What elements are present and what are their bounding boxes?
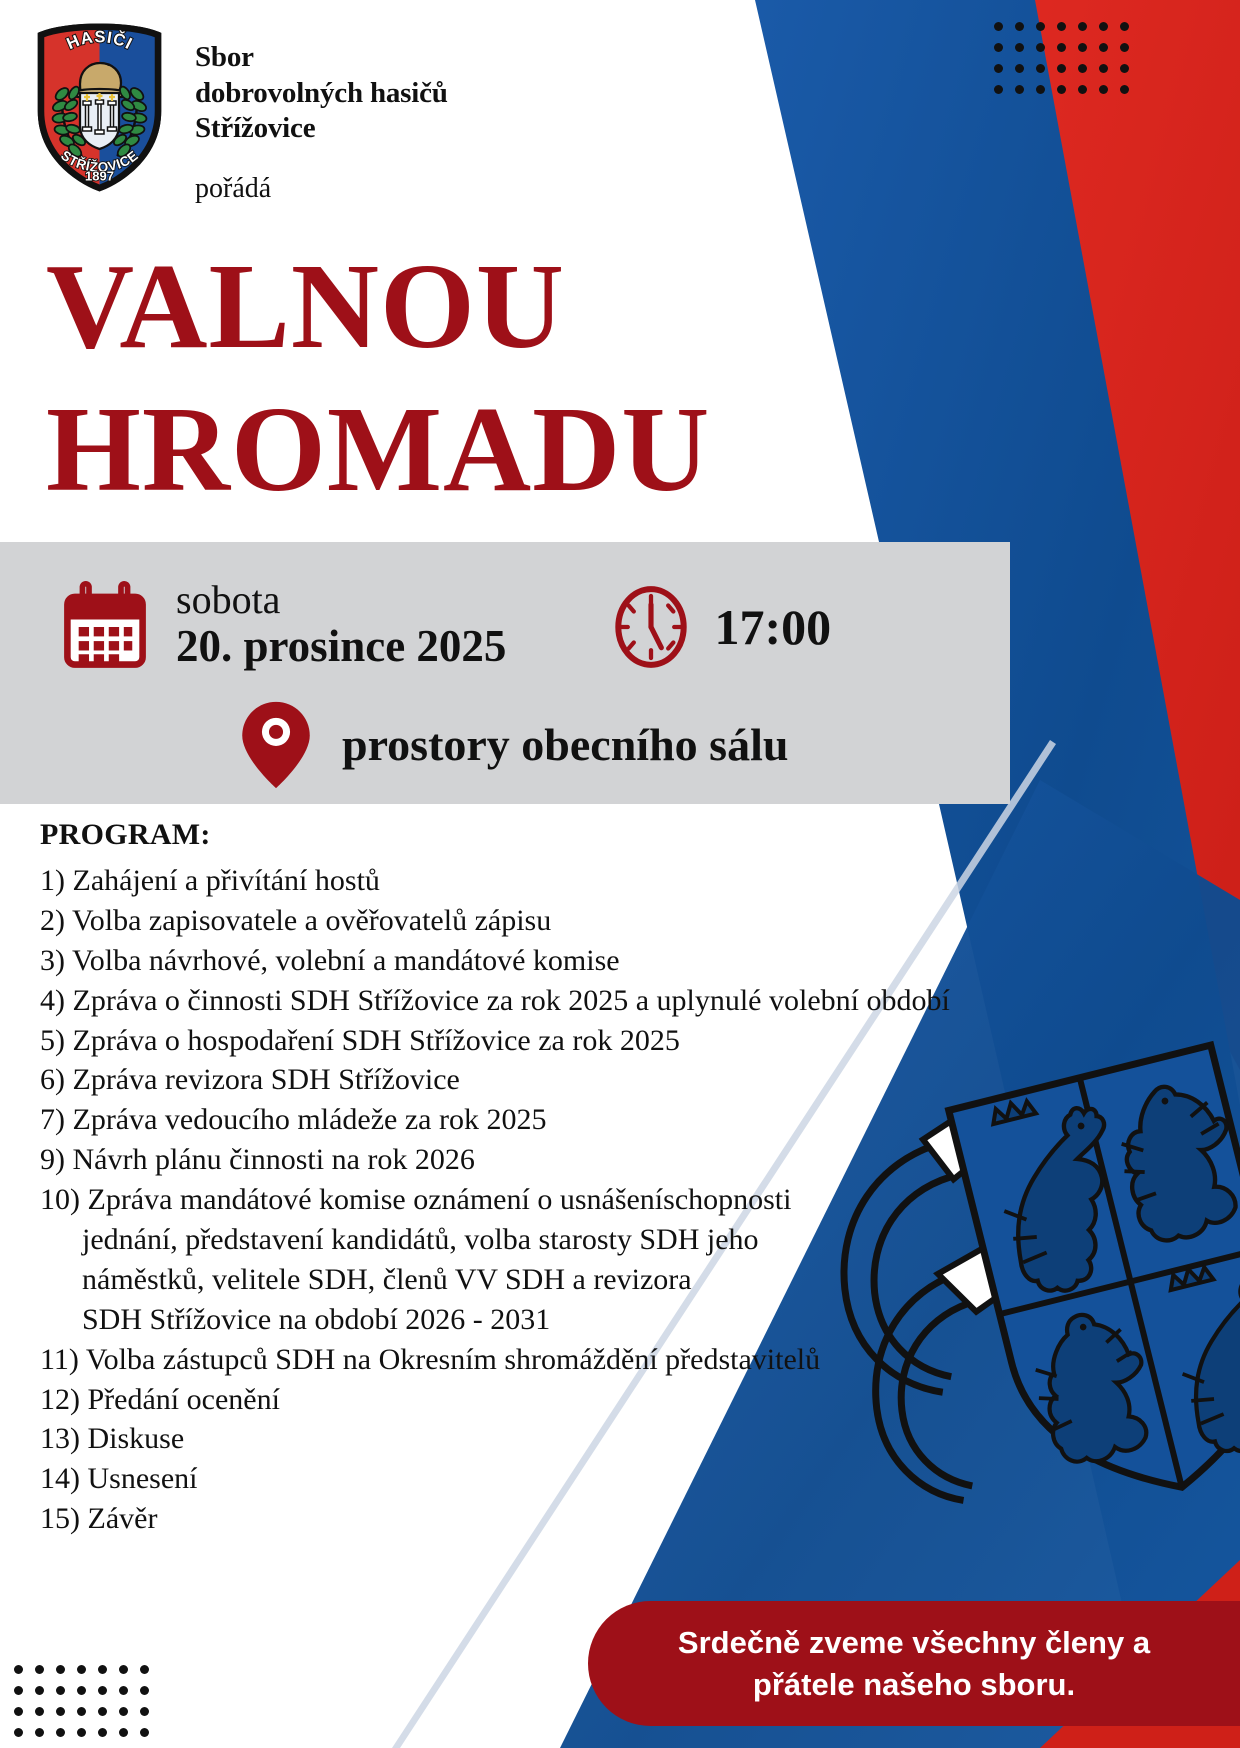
dot — [140, 1686, 149, 1695]
dot — [1120, 64, 1129, 73]
dot — [1015, 22, 1024, 31]
dot — [98, 1707, 107, 1716]
dot — [994, 43, 1003, 52]
dot — [1057, 43, 1066, 52]
dot — [56, 1686, 65, 1695]
program-item: 14) Usnesení — [40, 1459, 940, 1499]
dot-grid-top-right — [994, 22, 1141, 106]
program-item: 10) Zpráva mandátové komise oznámení o u… — [40, 1180, 940, 1220]
program-list: 1) Zahájení a přivítání hostů2) Volba za… — [40, 861, 940, 1539]
clock-icon — [608, 584, 694, 670]
dot-grid-bottom-left — [14, 1665, 161, 1748]
location-row: prostory obecního sálu — [238, 700, 788, 790]
dot — [14, 1728, 23, 1737]
dot — [1078, 85, 1087, 94]
event-date: 20. prosince 2025 — [176, 620, 506, 673]
dot — [77, 1728, 86, 1737]
event-details-banner: sobota 20. prosince 2025 — [0, 542, 1010, 804]
torches-icon — [83, 93, 117, 134]
dot — [994, 85, 1003, 94]
dot — [1099, 64, 1108, 73]
dot — [1078, 64, 1087, 73]
date-text-block: sobota 20. prosince 2025 — [176, 580, 506, 673]
dot — [14, 1665, 23, 1674]
dot — [994, 64, 1003, 73]
organizer-name-line1: Sbor — [195, 40, 448, 76]
fire-brigade-logo-icon: HASIČI — [32, 18, 167, 193]
dot — [35, 1665, 44, 1674]
dot — [1120, 22, 1129, 31]
program-item: 12) Předání ocenění — [40, 1380, 940, 1420]
program-item: 3) Volba návrhové, volební a mandátové k… — [40, 941, 940, 981]
title-line-1: VALNOU — [46, 236, 866, 379]
page-title: VALNOU HROMADU — [46, 236, 866, 521]
dot — [1099, 85, 1108, 94]
date-time-row: sobota 20. prosince 2025 — [58, 580, 990, 674]
program-item: 5) Zpráva o hospodaření SDH Střížovice z… — [40, 1021, 940, 1061]
organizer-text-block: Sbor dobrovolných hasičů Střížovice pořá… — [195, 18, 448, 205]
dot — [1120, 85, 1129, 94]
program-item: 15) Závěr — [40, 1499, 940, 1539]
dot — [1057, 85, 1066, 94]
invitation-line-2: přátele našeho sboru. — [753, 1667, 1075, 1702]
dot — [1015, 43, 1024, 52]
event-day-name: sobota — [176, 580, 506, 620]
dot — [1036, 64, 1045, 73]
dot — [1078, 43, 1087, 52]
dot — [1015, 85, 1024, 94]
time-block: 17:00 — [608, 584, 831, 670]
dot — [119, 1665, 128, 1674]
dot — [140, 1665, 149, 1674]
program-item: 9) Návrh plánu činnosti na rok 2026 — [40, 1140, 940, 1180]
dot — [77, 1665, 86, 1674]
dot — [140, 1728, 149, 1737]
map-pin-icon — [238, 700, 314, 790]
event-location: prostory obecního sálu — [342, 722, 788, 768]
dot — [98, 1728, 107, 1737]
dot — [98, 1686, 107, 1695]
dot — [1036, 43, 1045, 52]
program-item: 7) Zpráva vedoucího mládeže za rok 2025 — [40, 1100, 940, 1140]
dot — [1057, 22, 1066, 31]
event-time: 17:00 — [714, 602, 831, 652]
program-item: 11) Volba zástupců SDH na Okresním shrom… — [40, 1340, 940, 1380]
dot — [1036, 85, 1045, 94]
organizer-action-word: pořádá — [195, 173, 448, 205]
invitation-banner: Srdečně zveme všechny členy a přátele na… — [588, 1601, 1240, 1726]
dot — [56, 1707, 65, 1716]
program-item: 4) Zpráva o činnosti SDH Střížovice za r… — [40, 981, 940, 1021]
dot — [140, 1707, 149, 1716]
title-line-2: HROMADU — [46, 379, 866, 522]
dot — [1078, 22, 1087, 31]
program-item: náměstků, velitele SDH, členů VV SDH a r… — [40, 1260, 940, 1300]
dot — [994, 22, 1003, 31]
dot — [1120, 43, 1129, 52]
program-item: SDH Střížovice na období 2026 - 2031 — [40, 1300, 940, 1340]
organizer-name-line2: dobrovolných hasičů — [195, 76, 448, 112]
dot — [77, 1707, 86, 1716]
calendar-icon — [58, 580, 152, 674]
dot — [56, 1665, 65, 1674]
program-item: 2) Volba zapisovatele a ověřovatelů zápi… — [40, 901, 940, 941]
program-heading: PROGRAM: — [40, 818, 940, 852]
invitation-line-1: Srdečně zveme všechny členy a — [678, 1625, 1150, 1660]
invitation-text: Srdečně zveme všechny členy a přátele na… — [634, 1622, 1194, 1704]
program-section: PROGRAM: 1) Zahájení a přivítání hostů2)… — [40, 818, 940, 1539]
dot — [14, 1686, 23, 1695]
dot — [14, 1707, 23, 1716]
program-item: 1) Zahájení a přivítání hostů — [40, 861, 940, 901]
program-item: jednání, představení kandidátů, volba st… — [40, 1220, 940, 1260]
dot — [1099, 22, 1108, 31]
program-item: 6) Zpráva revizora SDH Střížovice — [40, 1060, 940, 1100]
dot — [119, 1707, 128, 1716]
dot — [119, 1686, 128, 1695]
dot — [35, 1728, 44, 1737]
dot — [1057, 64, 1066, 73]
program-item: 13) Diskuse — [40, 1419, 940, 1459]
dot — [77, 1686, 86, 1695]
dot — [1036, 22, 1045, 31]
dot — [56, 1728, 65, 1737]
dot — [119, 1728, 128, 1737]
dot — [1015, 64, 1024, 73]
logo-year-text: 1897 — [85, 169, 114, 184]
dot — [35, 1707, 44, 1716]
dot — [1099, 43, 1108, 52]
poster-header: HASIČI — [32, 18, 448, 205]
organizer-name-line3: Střížovice — [195, 111, 448, 147]
dot — [35, 1686, 44, 1695]
dot — [98, 1665, 107, 1674]
